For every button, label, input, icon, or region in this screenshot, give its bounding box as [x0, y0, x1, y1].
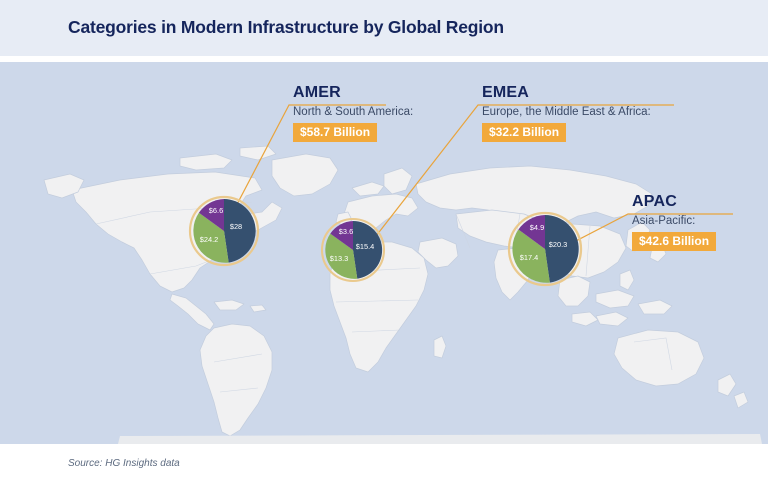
callout-amer[interactable]: AMER North & South America: $58.7 Billio…: [293, 83, 413, 142]
callout-emea[interactable]: EMEA Europe, the Middle East & Africa: $…: [482, 83, 651, 142]
pie-label-emea-3: $3.6: [339, 227, 353, 236]
pie-label-amer-1: $28: [230, 222, 242, 231]
callout-amer-amount-badge: $58.7 Billion: [293, 123, 377, 142]
pie-label-amer-3: $6.6: [209, 206, 223, 215]
pie-chart-emea[interactable]: $15.4 $13.3 $3.6: [321, 218, 385, 282]
pie-label-apac-2: $17.4: [520, 253, 539, 262]
callout-emea-code: EMEA: [482, 83, 651, 102]
source-note: Source: HG Insights data: [68, 458, 180, 469]
callout-emea-amount-badge: $32.2 Billion: [482, 123, 566, 142]
header-band: Categories in Modern Infrastructure by G…: [0, 0, 768, 56]
page-title: Categories in Modern Infrastructure by G…: [68, 17, 504, 38]
callout-emea-description: Europe, the Middle East & Africa:: [482, 104, 651, 120]
callout-apac[interactable]: APAC Asia-Pacific: $42.6 Billion: [632, 192, 716, 251]
pie-chart-amer[interactable]: $28 $24.2 $6.6: [189, 196, 259, 266]
pie-label-emea-2: $13.3: [330, 254, 349, 263]
infographic-page: Categories in Modern Infrastructure by G…: [0, 0, 768, 481]
callout-apac-amount-badge: $42.6 Billion: [632, 232, 716, 251]
pie-label-apac-1: $20.3: [549, 240, 568, 249]
callout-amer-code: AMER: [293, 83, 413, 102]
pie-label-apac-3: $4.9: [530, 223, 544, 232]
pie-label-emea-1: $15.4: [356, 242, 375, 251]
callout-apac-description: Asia-Pacific:: [632, 213, 716, 229]
pie-label-amer-2: $24.2: [200, 235, 219, 244]
callout-apac-code: APAC: [632, 192, 716, 211]
callout-amer-description: North & South America:: [293, 104, 413, 120]
pie-chart-apac[interactable]: $20.3 $17.4 $4.9: [508, 212, 582, 286]
